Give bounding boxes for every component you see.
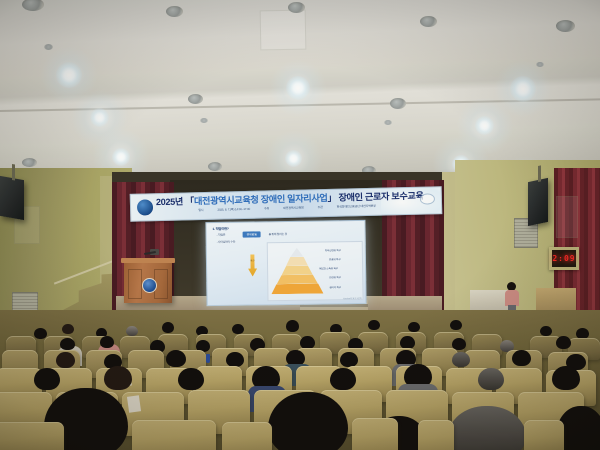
- pyramid-label-5: 생리적 욕구: [329, 285, 341, 289]
- audience-head: [452, 352, 470, 367]
- audience-head: [62, 324, 74, 334]
- ceiling-speaker-icon: [556, 20, 575, 32]
- slide-heading: 1. 직업이란?: [212, 226, 228, 231]
- audience-head: [226, 352, 244, 367]
- digital-clock-value: 2:09: [552, 254, 575, 263]
- wall-panel-right: [556, 196, 578, 238]
- banner-org-label: 주관: [311, 205, 330, 209]
- pyramid-label-3: 애정과 소속의 욕구: [319, 266, 338, 270]
- arrow-label: 욕구: [248, 258, 257, 262]
- audience-head: [60, 338, 75, 350]
- audience-head: [286, 320, 299, 332]
- podium-top: [121, 258, 175, 263]
- audience-head: [540, 326, 552, 336]
- pyramid-label-4: 안전의 욕구: [329, 275, 341, 279]
- speaker-mount-rod: [538, 165, 541, 182]
- wall-speaker-left: [0, 176, 24, 220]
- ceiling-speaker-icon: [208, 162, 222, 171]
- slide-highlight-chip: 경제활동: [243, 231, 261, 237]
- slide-bullet-2: - 자아실현의 수단: [217, 240, 236, 244]
- audience-head: [162, 322, 174, 333]
- ceiling-speaker-icon: [22, 158, 37, 167]
- ceiling-speaker-icon: [390, 98, 406, 109]
- needs-pyramid-diagram: [271, 247, 324, 294]
- ceiling-downlight-on: [56, 62, 82, 88]
- seat[interactable]: [418, 420, 454, 450]
- audience-head: [552, 366, 580, 390]
- pyramid-label-2: 존경의 욕구: [329, 257, 341, 261]
- seat[interactable]: [352, 418, 398, 450]
- seat[interactable]: [132, 420, 216, 450]
- banner-title-suffix: 」 장애인 근로자 보수교육: [327, 191, 423, 203]
- handout-paper: [127, 395, 141, 413]
- ceiling-downlight-on: [285, 150, 302, 167]
- audience-head: [126, 326, 138, 336]
- ceiling-downlight-on: [112, 148, 130, 166]
- banner-date-label: 일시: [191, 208, 210, 212]
- slide-bullet-1: - 직업은: [217, 233, 226, 237]
- ceiling: [0, 0, 600, 182]
- ceiling-downlight-on: [286, 76, 310, 100]
- audience-head: [512, 350, 531, 366]
- ceiling-downlight-off: [384, 120, 392, 125]
- pyramid-tier-5: [271, 283, 323, 294]
- audience-head: [330, 368, 356, 390]
- audience-seating-area: [0, 310, 600, 450]
- audience-head: [478, 368, 504, 390]
- seat[interactable]: [524, 420, 564, 450]
- ceiling-downlight-off: [44, 44, 53, 50]
- audience-head: [166, 350, 186, 367]
- audience-head: [178, 368, 204, 390]
- auditorium-photo: 2:09 1. 직업이란? - 직업은 경제활동 을 위해 일하는 것 - 자아…: [0, 0, 600, 450]
- slide-source-note: Maslow의 욕구 5단계: [343, 297, 361, 300]
- ceiling-speaker-icon: [22, 0, 44, 11]
- pyramid-tier-3: [282, 266, 313, 275]
- audience-head: [232, 324, 244, 334]
- banner-title-highlight: 대전광역시교육청 장애인 일자리사업: [194, 193, 328, 206]
- standing-staff-member: [505, 282, 519, 312]
- school-emblem-icon: [142, 278, 157, 293]
- banner-date: 2025. 8. 7.(목) 14:00~17:00: [210, 207, 257, 212]
- globe-emblem-icon: [136, 198, 154, 216]
- wall-speaker-right: [528, 178, 548, 226]
- person-torso: [505, 290, 519, 306]
- ceiling-downlight-on: [475, 116, 494, 135]
- oval-watermark-icon: [420, 193, 435, 204]
- ceiling-speaker-icon: [420, 16, 437, 27]
- ceiling-downlight-on: [90, 108, 109, 127]
- audience-head: [556, 336, 571, 349]
- audience-head: [368, 320, 380, 330]
- audience-head: [408, 322, 420, 332]
- banner-host-label: 주최: [257, 206, 276, 210]
- ceiling-panel-seam: [260, 10, 307, 51]
- ceiling-speaker-icon: [288, 2, 305, 13]
- slide-bullet-1-tail: 을 위해 일하는 것: [269, 232, 287, 236]
- pyramid-label-1: 자아실현의 욕구: [325, 248, 341, 252]
- podium-panel-left: [128, 269, 142, 299]
- audience-head: [56, 352, 75, 368]
- water-bottle: [206, 354, 210, 363]
- podium: [124, 261, 172, 303]
- projection-screen: 1. 직업이란? - 직업은 경제활동 을 위해 일하는 것 - 자아실현의 수…: [205, 220, 366, 306]
- audience-head: [450, 320, 462, 330]
- banner-host: 대전광역시교육청: [276, 205, 311, 210]
- banner-title-prefix: 2025년 「: [156, 196, 194, 207]
- digital-clock-display: 2:09: [549, 247, 579, 270]
- pyramid-tier-1: [290, 248, 303, 257]
- pyramid-tier-2: [286, 257, 308, 266]
- audience-head: [100, 336, 114, 348]
- seat[interactable]: [222, 422, 272, 450]
- audience-head: [104, 366, 132, 390]
- ceiling-downlight-on: [510, 76, 536, 102]
- audience-head: [340, 352, 358, 367]
- ceiling-downlight-off: [200, 118, 208, 123]
- ceiling-speaker-icon: [166, 6, 183, 17]
- ceiling-speaker-icon: [188, 94, 203, 104]
- audience-head: [34, 368, 60, 390]
- banner-org: 한국장애인고용공단 대전지역본부: [330, 204, 383, 209]
- speaker-mount-rod: [12, 164, 15, 181]
- seat[interactable]: [0, 422, 64, 450]
- pyramid-tier-4: [277, 275, 318, 285]
- ceiling-downlight-off: [536, 62, 544, 67]
